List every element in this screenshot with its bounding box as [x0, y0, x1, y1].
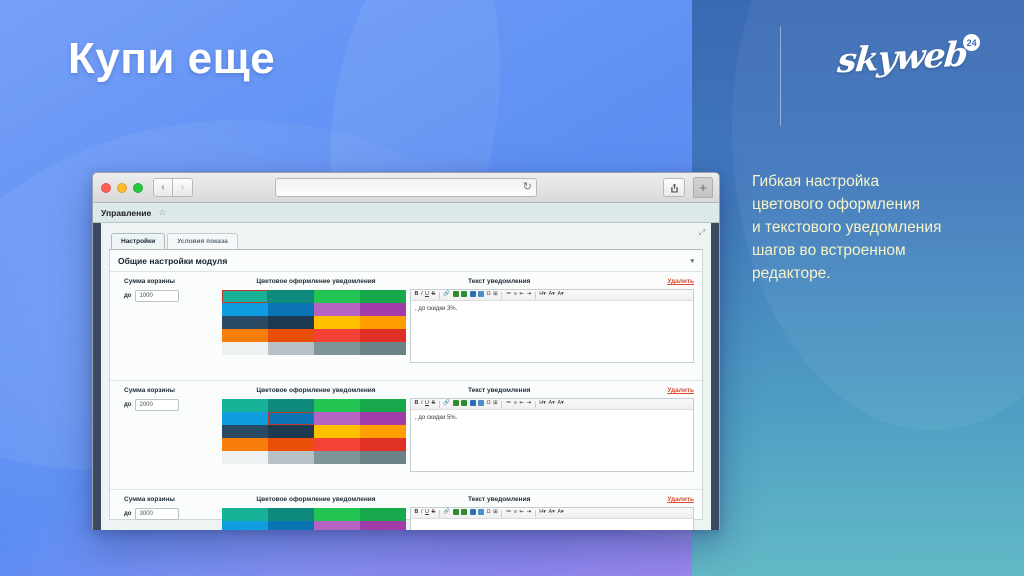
editor-outdent-icon[interactable]: ⇤	[519, 292, 525, 298]
notification-text-label: Текст уведомления	[468, 387, 530, 394]
text-color-icon	[453, 400, 459, 406]
image-icon	[470, 509, 476, 515]
text-color-icon	[453, 509, 459, 515]
editor-heading-icon[interactable]: H▾	[539, 292, 547, 298]
description-line-4: шагов во встроенном	[752, 240, 1010, 263]
notification-text-header: Текст уведомленияУдалить	[410, 387, 694, 394]
editor-numbered-list-icon[interactable]: ≡	[513, 401, 517, 407]
background-right-panel	[692, 0, 1024, 576]
logo-badge-24: 24	[963, 34, 980, 51]
page-viewport: ⤢ Настройки Условия показа Общие настрой…	[93, 223, 719, 530]
color-swatch[interactable]	[314, 399, 360, 412]
color-swatch[interactable]	[314, 303, 360, 316]
color-swatch[interactable]	[268, 521, 314, 530]
reload-icon[interactable]: ↻	[523, 182, 532, 193]
rich-text-editor[interactable]: BIUS🔗Ω⊞≔≡⇤⇥H▾A▾A▾, до скидки 5%.	[410, 398, 694, 472]
color-swatch[interactable]	[268, 451, 314, 464]
editor-bullet-list-icon[interactable]: ≔	[505, 292, 512, 298]
color-swatch[interactable]	[314, 521, 360, 530]
color-swatch[interactable]	[314, 451, 360, 464]
toolbar-separator	[439, 510, 440, 517]
editor-content[interactable]: , до скидки 5%.	[411, 410, 693, 426]
color-scheme-cell: Цветовое оформление уведомления	[222, 278, 410, 380]
editor-table-icon[interactable]	[478, 509, 485, 518]
color-swatch[interactable]	[222, 399, 268, 412]
table-icon	[478, 400, 484, 406]
editor-strk-button[interactable]: S	[431, 292, 436, 298]
editor-content[interactable]: , до скидки 3%.	[411, 301, 693, 317]
editor-und-button[interactable]: U	[425, 510, 430, 516]
cart-sum-input[interactable]: 3000	[135, 508, 179, 520]
color-swatch[interactable]	[222, 412, 268, 425]
table-icon	[478, 509, 484, 515]
color-swatch[interactable]	[360, 521, 406, 530]
color-swatch[interactable]	[360, 412, 406, 425]
editor-source-icon[interactable]: ⊞	[493, 510, 499, 516]
rich-text-editor[interactable]: BIUS🔗Ω⊞≔≡⇤⇥H▾A▾A▾, до скидки 3%.	[410, 289, 694, 363]
color-swatch[interactable]	[360, 399, 406, 412]
color-swatch[interactable]	[268, 342, 314, 355]
color-swatch[interactable]	[314, 438, 360, 451]
color-swatch[interactable]	[314, 316, 360, 329]
color-swatch[interactable]	[314, 290, 360, 303]
notification-text-header: Текст уведомленияУдалить	[410, 496, 694, 503]
browser-titlebar: ‹ › ↻ +	[93, 173, 719, 203]
color-swatch[interactable]	[268, 303, 314, 316]
editor-special-char-icon[interactable]: Ω	[486, 401, 491, 407]
color-scheme-label: Цветовое оформление уведомления	[222, 278, 410, 285]
rich-text-editor[interactable]: BIUS🔗Ω⊞≔≡⇤⇥H▾A▾A▾	[410, 507, 694, 530]
editor-text-color-icon[interactable]	[452, 400, 459, 409]
editor-outdent-icon[interactable]: ⇤	[519, 510, 525, 516]
expand-icon[interactable]: ⤢	[699, 228, 705, 238]
header-divider	[780, 26, 781, 126]
editor-table-icon[interactable]	[478, 291, 485, 300]
toolbar-separator	[439, 401, 440, 408]
editor-special-char-icon[interactable]: Ω	[486, 510, 491, 516]
editor-indent-icon[interactable]: ⇥	[526, 401, 532, 407]
toolbar-separator	[501, 292, 502, 299]
back-icon[interactable]: ‹	[153, 178, 173, 197]
page-title: Купи еще	[68, 34, 275, 84]
brand-logo: skyweb 24	[838, 38, 966, 78]
editor-content[interactable]	[411, 519, 693, 529]
editor-font-icon[interactable]: A▾	[548, 292, 555, 298]
cart-sum-field: до2000	[124, 399, 222, 411]
notification-text-header: Текст уведомленияУдалить	[410, 278, 694, 285]
editor-size-icon[interactable]: A▾	[557, 510, 564, 516]
color-swatch-grid[interactable]	[222, 399, 406, 464]
settings-panel: Общие настройки модуля ▾ Сумма корзиныдо…	[109, 249, 703, 520]
table-icon	[478, 291, 484, 297]
editor-indent-icon[interactable]: ⇥	[526, 510, 532, 516]
cart-sum-prefix: до	[124, 293, 131, 299]
chevron-down-icon[interactable]: ▾	[690, 257, 694, 265]
toolbar-separator	[501, 401, 502, 408]
feature-description: Гибкая настройка цветового оформления и …	[752, 171, 1010, 286]
panel-header[interactable]: Общие настройки модуля ▾	[110, 250, 702, 272]
delete-row-link[interactable]: Удалить	[667, 387, 694, 394]
close-icon[interactable]	[101, 183, 111, 193]
color-swatch[interactable]	[360, 290, 406, 303]
editor-bg-color-icon[interactable]	[461, 291, 468, 300]
editor-bold-button[interactable]: B	[414, 292, 419, 298]
editor-image-icon[interactable]	[469, 400, 476, 409]
color-scheme-label: Цветовое оформление уведомления	[222, 387, 410, 394]
bookmark-star-icon[interactable]: ☆	[158, 207, 166, 218]
cart-sum-cell: Сумма корзиныдо1000	[110, 278, 222, 380]
share-icon[interactable]	[663, 178, 685, 197]
color-swatch[interactable]	[268, 425, 314, 438]
editor-outdent-icon[interactable]: ⇤	[519, 401, 525, 407]
logo-wordmark: skyweb	[836, 35, 968, 82]
color-swatch-grid[interactable]	[222, 508, 406, 530]
table-row: Сумма корзиныдо1000Цветовое оформление у…	[110, 272, 702, 381]
new-tab-button[interactable]: +	[693, 177, 713, 198]
settings-rows: Сумма корзиныдо1000Цветовое оформление у…	[110, 272, 702, 530]
table-row: Сумма корзиныдо2000Цветовое оформление у…	[110, 381, 702, 490]
editor-table-icon[interactable]	[478, 400, 485, 409]
editor-toolbar[interactable]: BIUS🔗Ω⊞≔≡⇤⇥H▾A▾A▾	[411, 399, 693, 410]
toolbar-separator	[535, 510, 536, 517]
editor-link-icon[interactable]: 🔗	[443, 510, 451, 516]
editor-size-icon[interactable]: A▾	[557, 401, 564, 407]
color-scheme-label: Цветовое оформление уведомления	[222, 496, 410, 503]
color-scheme-cell: Цветовое оформление уведомления	[222, 387, 410, 489]
color-swatch[interactable]	[222, 303, 268, 316]
description-line-2: цветового оформления	[752, 194, 1010, 217]
toolbar-separator	[535, 292, 536, 299]
notification-text-cell: Текст уведомленияУдалитьBIUS🔗Ω⊞≔≡⇤⇥H▾A▾A…	[410, 278, 702, 380]
editor-ital-button[interactable]: I	[420, 510, 423, 516]
navigation-buttons[interactable]: ‹ ›	[153, 178, 193, 197]
delete-row-link[interactable]: Удалить	[667, 278, 694, 285]
window-controls[interactable]	[101, 183, 143, 193]
color-swatch[interactable]	[314, 412, 360, 425]
editor-special-char-icon[interactable]: Ω	[486, 292, 491, 298]
color-swatch[interactable]	[360, 342, 406, 355]
color-swatch[interactable]	[268, 438, 314, 451]
editor-bg-color-icon[interactable]	[461, 400, 468, 409]
maximize-icon[interactable]	[133, 183, 143, 193]
editor-bullet-list-icon[interactable]: ≔	[505, 401, 512, 407]
browser-tab-bar[interactable]: Управление ☆	[93, 203, 719, 223]
editor-bold-button[interactable]: B	[414, 401, 419, 407]
editor-bullet-list-icon[interactable]: ≔	[505, 510, 512, 516]
editor-source-icon[interactable]: ⊞	[493, 401, 499, 407]
color-swatch[interactable]	[314, 508, 360, 521]
browser-window: ‹ › ↻ + Управление ☆ ⤢ Настройки Условия…	[92, 172, 720, 530]
editor-text-color-icon[interactable]	[452, 509, 459, 518]
notification-text-label: Текст уведомления	[468, 278, 530, 285]
editor-strk-button[interactable]: S	[431, 510, 436, 516]
panel-title: Общие настройки модуля	[118, 256, 227, 266]
app-content: ⤢ Настройки Условия показа Общие настрой…	[101, 223, 711, 530]
editor-bg-color-icon[interactable]	[461, 509, 468, 518]
address-bar[interactable]: ↻	[275, 178, 537, 197]
color-swatch[interactable]	[360, 425, 406, 438]
editor-toolbar[interactable]: BIUS🔗Ω⊞≔≡⇤⇥H▾A▾A▾	[411, 290, 693, 301]
toolbar-separator	[535, 401, 536, 408]
notification-text-cell: Текст уведомленияУдалитьBIUS🔗Ω⊞≔≡⇤⇥H▾A▾A…	[410, 496, 702, 530]
description-line-3: и текстового уведомления	[752, 217, 1010, 240]
color-swatch[interactable]	[222, 290, 268, 303]
color-swatch[interactable]	[222, 342, 268, 355]
cart-sum-input[interactable]: 1000	[135, 290, 179, 302]
cart-sum-input[interactable]: 2000	[135, 399, 179, 411]
color-swatch[interactable]	[360, 451, 406, 464]
color-swatch[interactable]	[222, 425, 268, 438]
color-swatch[interactable]	[222, 316, 268, 329]
bg-color-icon	[461, 400, 467, 406]
editor-indent-icon[interactable]: ⇥	[526, 292, 532, 298]
color-swatch[interactable]	[268, 290, 314, 303]
editor-font-icon[interactable]: A▾	[548, 510, 555, 516]
notification-text-cell: Текст уведомленияУдалитьBIUS🔗Ω⊞≔≡⇤⇥H▾A▾A…	[410, 387, 702, 489]
cart-sum-label: Сумма корзины	[124, 496, 222, 503]
browser-tab-title[interactable]: Управление	[101, 208, 151, 218]
color-swatch[interactable]	[268, 316, 314, 329]
color-swatch[interactable]	[268, 412, 314, 425]
color-swatch[interactable]	[222, 508, 268, 521]
color-swatch[interactable]	[268, 329, 314, 342]
editor-image-icon[interactable]	[469, 291, 476, 300]
cart-sum-label: Сумма корзины	[124, 278, 222, 285]
module-tabs[interactable]: Настройки Условия показа	[101, 223, 711, 249]
tab-display-conditions[interactable]: Условия показа	[167, 233, 237, 249]
color-scheme-cell: Цветовое оформление уведомления	[222, 496, 410, 530]
editor-font-icon[interactable]: A▾	[548, 401, 555, 407]
image-icon	[470, 400, 476, 406]
cart-sum-label: Сумма корзины	[124, 387, 222, 394]
forward-icon[interactable]: ›	[173, 178, 193, 197]
color-swatch[interactable]	[222, 438, 268, 451]
editor-und-button[interactable]: U	[425, 292, 430, 298]
notification-text-label: Текст уведомления	[468, 496, 530, 503]
share-glyph	[670, 183, 679, 193]
color-swatch[interactable]	[360, 329, 406, 342]
editor-link-icon[interactable]: 🔗	[443, 401, 451, 407]
editor-numbered-list-icon[interactable]: ≡	[513, 292, 517, 298]
color-swatch[interactable]	[222, 521, 268, 530]
editor-size-icon[interactable]: A▾	[557, 292, 564, 298]
bg-color-icon	[461, 509, 467, 515]
cart-sum-cell: Сумма корзиныдо2000	[110, 387, 222, 489]
editor-bold-button[interactable]: B	[414, 510, 419, 516]
tab-settings[interactable]: Настройки	[111, 233, 165, 249]
color-swatch[interactable]	[268, 508, 314, 521]
editor-image-icon[interactable]	[469, 509, 476, 518]
editor-text-color-icon[interactable]	[452, 291, 459, 300]
editor-heading-icon[interactable]: H▾	[539, 401, 547, 407]
image-icon	[470, 291, 476, 297]
color-swatch[interactable]	[314, 425, 360, 438]
description-line-5: редакторе.	[752, 263, 1010, 286]
color-swatch[interactable]	[360, 303, 406, 316]
table-row: Сумма корзиныдо3000Цветовое оформление у…	[110, 490, 702, 530]
editor-heading-icon[interactable]: H▾	[539, 510, 547, 516]
editor-toolbar[interactable]: BIUS🔗Ω⊞≔≡⇤⇥H▾A▾A▾	[411, 508, 693, 519]
description-line-1: Гибкая настройка	[752, 171, 1010, 194]
color-swatch[interactable]	[314, 342, 360, 355]
minimize-icon[interactable]	[117, 183, 127, 193]
cart-sum-prefix: до	[124, 402, 131, 408]
color-swatch[interactable]	[360, 438, 406, 451]
color-swatch[interactable]	[222, 329, 268, 342]
text-color-icon	[453, 291, 459, 297]
editor-ital-button[interactable]: I	[420, 292, 423, 298]
color-swatch[interactable]	[268, 399, 314, 412]
editor-und-button[interactable]: U	[425, 401, 430, 407]
color-swatch[interactable]	[314, 329, 360, 342]
editor-numbered-list-icon[interactable]: ≡	[513, 510, 517, 516]
toolbar-separator	[501, 510, 502, 517]
editor-strk-button[interactable]: S	[431, 401, 436, 407]
cart-sum-cell: Сумма корзиныдо3000	[110, 496, 222, 530]
color-swatch[interactable]	[222, 451, 268, 464]
cart-sum-prefix: до	[124, 511, 131, 517]
bg-color-icon	[461, 291, 467, 297]
color-swatch[interactable]	[360, 508, 406, 521]
cart-sum-field: до3000	[124, 508, 222, 520]
editor-ital-button[interactable]: I	[420, 401, 423, 407]
editor-source-icon[interactable]: ⊞	[493, 292, 499, 298]
color-swatch-grid[interactable]	[222, 290, 406, 355]
editor-link-icon[interactable]: 🔗	[443, 292, 451, 298]
delete-row-link[interactable]: Удалить	[667, 496, 694, 503]
toolbar-separator	[439, 292, 440, 299]
color-swatch[interactable]	[360, 316, 406, 329]
cart-sum-field: до1000	[124, 290, 222, 302]
